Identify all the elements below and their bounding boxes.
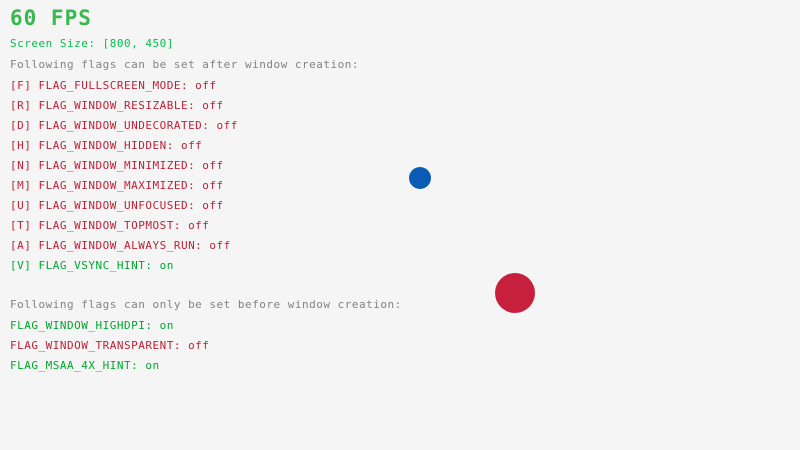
flag-row-flag-msaa-4x-hint[interactable]: FLAG_MSAA_4X_HINT: on (10, 360, 160, 371)
flag-row-flag-window-transparent[interactable]: FLAG_WINDOW_TRANSPARENT: off (10, 340, 209, 351)
flag-row-flag-window-unfocused[interactable]: [U] FLAG_WINDOW_UNFOCUSED: off (10, 200, 224, 211)
bouncing-ball-blue (409, 167, 431, 189)
flag-row-flag-fullscreen-mode[interactable]: [F] FLAG_FULLSCREEN_MODE: off (10, 80, 217, 91)
flag-row-flag-window-maximized[interactable]: [M] FLAG_WINDOW_MAXIMIZED: off (10, 180, 224, 191)
fps-counter: 60 FPS (10, 8, 92, 29)
startup-flags-heading: Following flags can only be set before w… (10, 299, 402, 310)
flag-row-flag-vsync-hint[interactable]: [V] FLAG_VSYNC_HINT: on (10, 260, 174, 271)
raylib-window: 60 FPS Screen Size: [800, 450] Following… (0, 0, 800, 450)
flag-row-flag-window-highdpi[interactable]: FLAG_WINDOW_HIGHDPI: on (10, 320, 174, 331)
flag-row-flag-window-hidden[interactable]: [H] FLAG_WINDOW_HIDDEN: off (10, 140, 202, 151)
screen-size-label: Screen Size: [800, 450] (10, 38, 174, 49)
flag-row-flag-window-undecorated[interactable]: [D] FLAG_WINDOW_UNDECORATED: off (10, 120, 238, 131)
flag-row-flag-window-always-run[interactable]: [A] FLAG_WINDOW_ALWAYS_RUN: off (10, 240, 231, 251)
flag-row-flag-window-minimized[interactable]: [N] FLAG_WINDOW_MINIMIZED: off (10, 160, 224, 171)
runtime-flags-heading: Following flags can be set after window … (10, 59, 359, 70)
flag-row-flag-window-topmost[interactable]: [T] FLAG_WINDOW_TOPMOST: off (10, 220, 209, 231)
flag-row-flag-window-resizable[interactable]: [R] FLAG_WINDOW_RESIZABLE: off (10, 100, 224, 111)
bouncing-ball-red (495, 273, 535, 313)
